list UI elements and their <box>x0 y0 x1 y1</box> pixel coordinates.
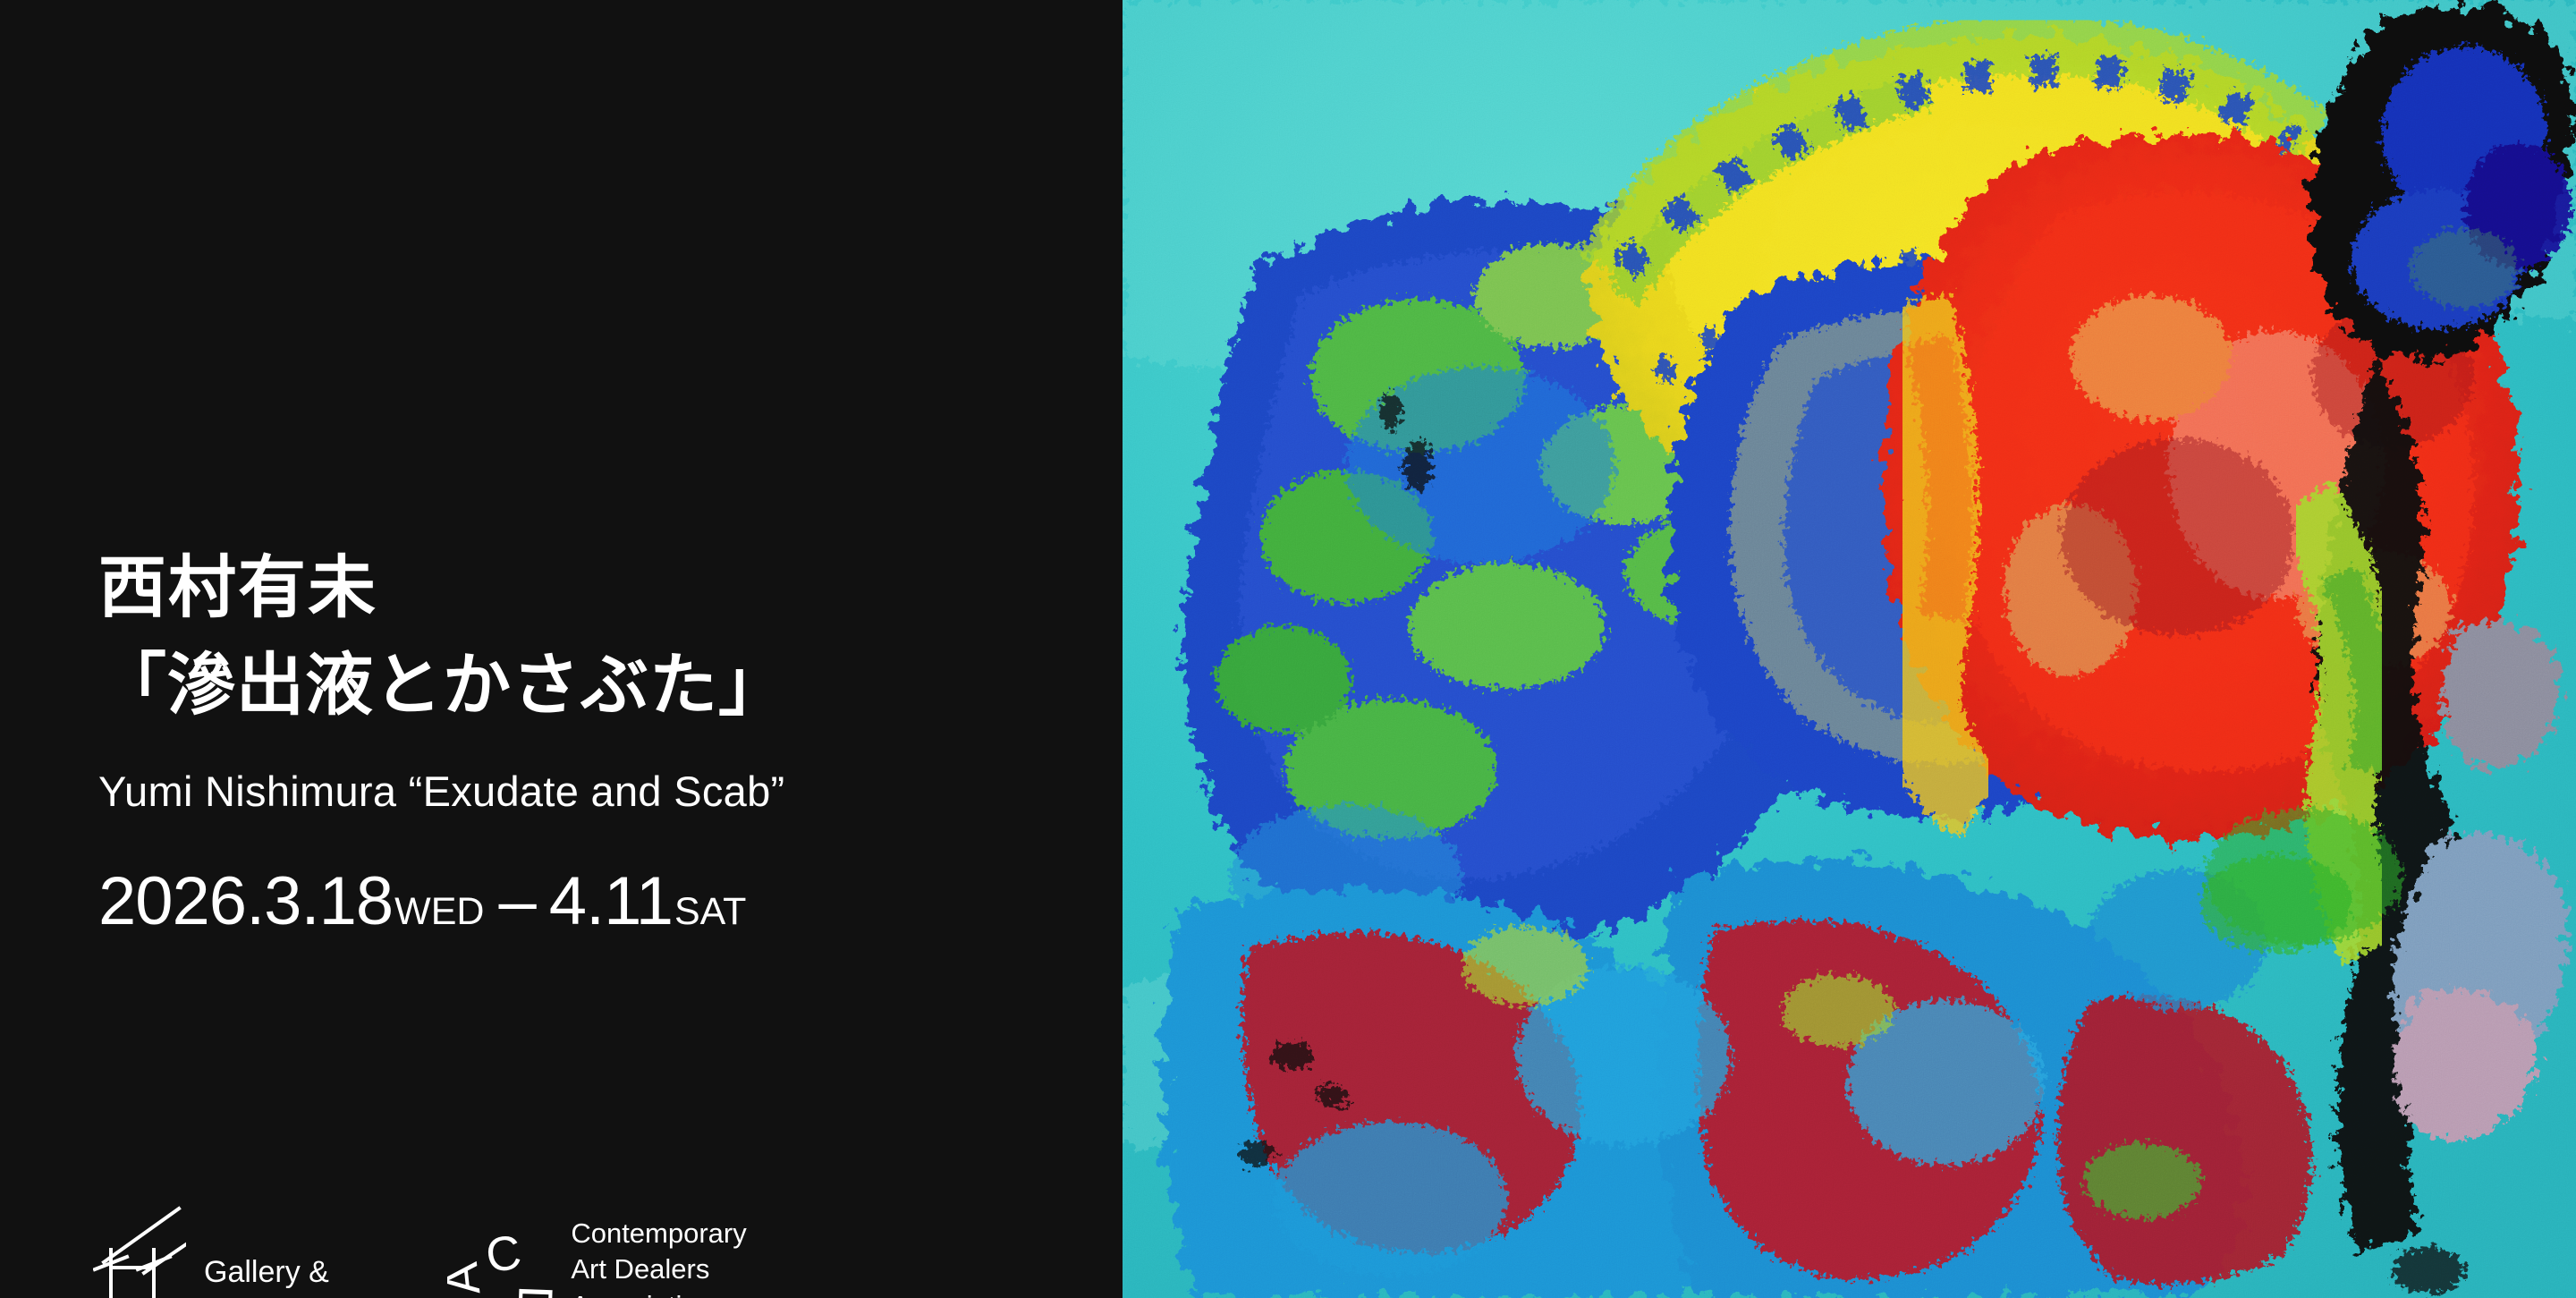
svg-text:A: A <box>447 1260 490 1298</box>
artwork-canvas <box>1123 0 2576 1298</box>
gallery-restaurant-mark-icon <box>93 1205 186 1298</box>
svg-text:C: C <box>483 1226 525 1284</box>
cada-line2: Art Dealers <box>571 1253 709 1285</box>
date-start: 2026.3.18 <box>98 862 393 940</box>
artwork-image <box>1123 0 2576 1298</box>
exhibition-poster: 西村有未 「滲出液とかさぶた」 Yumi Nishimura “Exudate … <box>0 0 2576 1298</box>
artist-name-jp: 西村有未 <box>98 547 1100 631</box>
date-end: 4.11 <box>549 862 673 940</box>
title-block: 西村有未 「滲出液とかさぶた」 Yumi Nishimura “Exudate … <box>98 547 1100 940</box>
cada-line1: Contemporary <box>571 1217 746 1249</box>
date-start-dow: WED <box>394 890 484 934</box>
date-end-dow: SAT <box>674 890 746 934</box>
svg-text:D: D <box>508 1285 554 1298</box>
exhibition-title-en: Yumi Nishimura “Exudate and Scab” <box>98 767 1100 816</box>
logo-strip: Gallery & Restaurant C A A D <box>93 1205 747 1298</box>
gallery-restaurant-line1: Gallery & <box>204 1255 329 1289</box>
cada-logo: C A A D Contemporary Art Dealers Associa… <box>447 1205 746 1298</box>
cada-mark-icon: C A A D <box>447 1205 553 1298</box>
exhibition-dates: 2026.3.18 WED – 4.11 SAT <box>98 862 1100 940</box>
cada-line3: Association <box>571 1290 713 1298</box>
exhibition-title-jp: 「滲出液とかさぶた」 <box>98 645 1100 728</box>
info-panel: 西村有未 「滲出液とかさぶた」 Yumi Nishimura “Exudate … <box>0 0 1123 1298</box>
gallery-restaurant-logo: Gallery & Restaurant <box>93 1205 352 1298</box>
gallery-restaurant-line2: Restaurant <box>204 1294 352 1298</box>
gallery-restaurant-label: Gallery & Restaurant <box>204 1205 352 1298</box>
date-separator: – <box>498 862 536 940</box>
cada-label: Contemporary Art Dealers Association <box>571 1205 746 1298</box>
